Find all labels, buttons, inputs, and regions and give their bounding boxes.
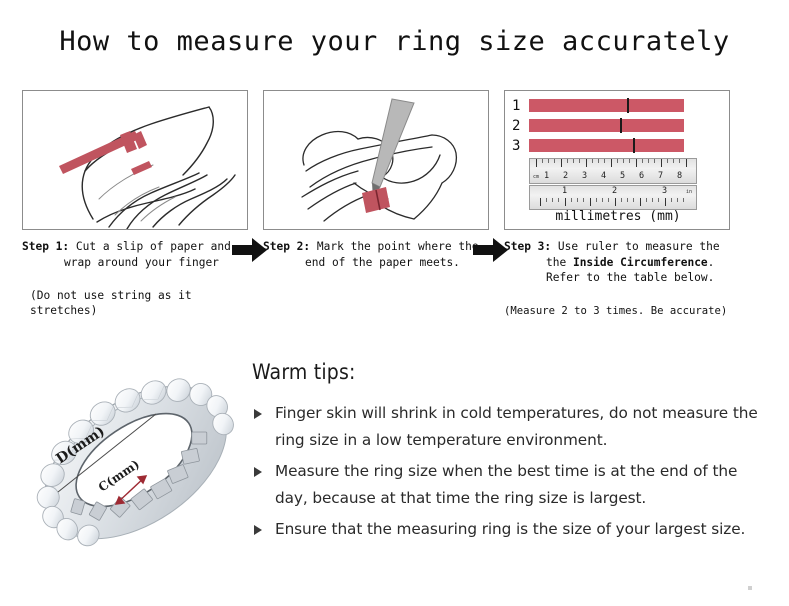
inside-circumference-emphasis: Inside Circumference	[573, 256, 708, 269]
strip-row: 3	[512, 137, 684, 154]
eternity-ring-diagram: D(mm) C(mm)	[18, 352, 250, 572]
ruler-metric-tick-label: 7	[658, 172, 663, 181]
step-3-line2-pre: the	[546, 256, 573, 269]
ruler-metric-tick-label: 4	[601, 172, 606, 181]
warm-tips-section: Warm tips: Finger skin will shrink in co…	[252, 360, 772, 547]
tip-item: Finger skin will shrink in cold temperat…	[252, 400, 772, 454]
step-3-caption: Step 3: Use ruler to measure the the Ins…	[504, 239, 732, 286]
ruler-metric-tick-label: 2	[563, 172, 568, 181]
step-2-label: Step 2:	[263, 240, 310, 253]
steps-row: Step 1: Cut a slip of paper and wrap aro…	[0, 90, 789, 340]
strip-tick-mark	[633, 138, 635, 153]
ruler-imperial-tick-label: 1	[562, 187, 567, 196]
step-3-column: 1 2 3	[504, 90, 732, 319]
ruler-imperial-tick-label: 2	[612, 187, 617, 196]
step-3-note: (Measure 2 to 3 times. Be accurate)	[504, 304, 732, 319]
ruler-imperial-scale: 1 2 3 in	[529, 185, 697, 210]
ruler-metric-unit: cm	[533, 174, 539, 180]
strip-number: 2	[512, 118, 529, 134]
tip-item: Ensure that the measuring ring is the si…	[252, 516, 772, 543]
step-1-line2: wrap around your finger	[22, 255, 250, 271]
step-3-line2-post: .	[708, 256, 715, 269]
strip-bar	[529, 99, 684, 112]
ruler-metric-tick-label: 1	[544, 172, 549, 181]
ruler-metric-tick-label: 6	[639, 172, 644, 181]
strip-tick-mark	[620, 118, 622, 133]
ruler-metric-tick-label: 8	[677, 172, 682, 181]
step-1-panel	[22, 90, 248, 230]
step-3-line1: Use ruler to measure the	[558, 240, 720, 253]
ruler-metric-tick-label: 5	[620, 172, 625, 181]
strip-number: 1	[512, 98, 529, 114]
ruler-metric-scale: cm 1 2 3 4 5 6 7 8	[529, 158, 697, 184]
step-2-line1: Mark the point where the	[317, 240, 479, 253]
ruler-metric-tick-label: 3	[582, 172, 587, 181]
warm-tips-heading: Warm tips:	[252, 360, 772, 384]
step-3-line2: the Inside Circumference.	[504, 255, 732, 271]
strip-row: 1	[512, 97, 684, 114]
tip-text: Ensure that the measuring ring is the si…	[275, 520, 745, 538]
strip-bar	[529, 139, 684, 152]
step-1-label: Step 1:	[22, 240, 69, 253]
strip-tick-mark	[627, 98, 629, 113]
ring-diagram-wrapper: D(mm) C(mm)	[18, 352, 250, 572]
triangle-bullet-icon	[254, 467, 262, 477]
strip-row: 2	[512, 117, 684, 134]
step-1-line1: Cut a slip of paper and	[76, 240, 231, 253]
lower-section: D(mm) C(mm) Warm tips: Finger skin will …	[0, 352, 789, 606]
paper-strip-samples: 1 2 3	[512, 97, 684, 157]
step-3-label: Step 3:	[504, 240, 551, 253]
corner-watermark-artifact	[742, 586, 752, 593]
step-2-caption: Step 2: Mark the point where the end of …	[263, 239, 491, 270]
tip-text: Measure the ring size when the best time…	[275, 462, 737, 507]
page-title: How to measure your ring size accurately	[0, 26, 789, 57]
ruler-imperial-unit: in	[686, 189, 692, 195]
triangle-bullet-icon	[254, 409, 262, 419]
unit-caption: millimetres (mm)	[505, 209, 730, 224]
step-1-caption: Step 1: Cut a slip of paper and wrap aro…	[22, 239, 250, 270]
tip-item: Measure the ring size when the best time…	[252, 458, 772, 512]
strip-bar	[529, 119, 684, 132]
step-1-note: (Do not use string as it stretches)	[22, 288, 250, 318]
hand-marking-paper-with-pen-illustration	[264, 91, 489, 230]
step-2-panel	[263, 90, 489, 230]
strip-number: 3	[512, 138, 529, 154]
hand-with-paper-slip-illustration	[23, 91, 248, 230]
tip-text: Finger skin will shrink in cold temperat…	[275, 404, 758, 449]
step-2-column: Step 2: Mark the point where the end of …	[263, 90, 491, 270]
triangle-bullet-icon	[254, 525, 262, 535]
step-3-panel: 1 2 3	[504, 90, 730, 230]
step-1-column: Step 1: Cut a slip of paper and wrap aro…	[22, 90, 250, 318]
step-3-line3: Refer to the table below.	[504, 270, 732, 286]
ruler-illustration: cm 1 2 3 4 5 6 7 8 1 2 3 in	[529, 158, 697, 210]
ruler-imperial-tick-label: 3	[662, 187, 667, 196]
step-2-line2: end of the paper meets.	[263, 255, 491, 271]
